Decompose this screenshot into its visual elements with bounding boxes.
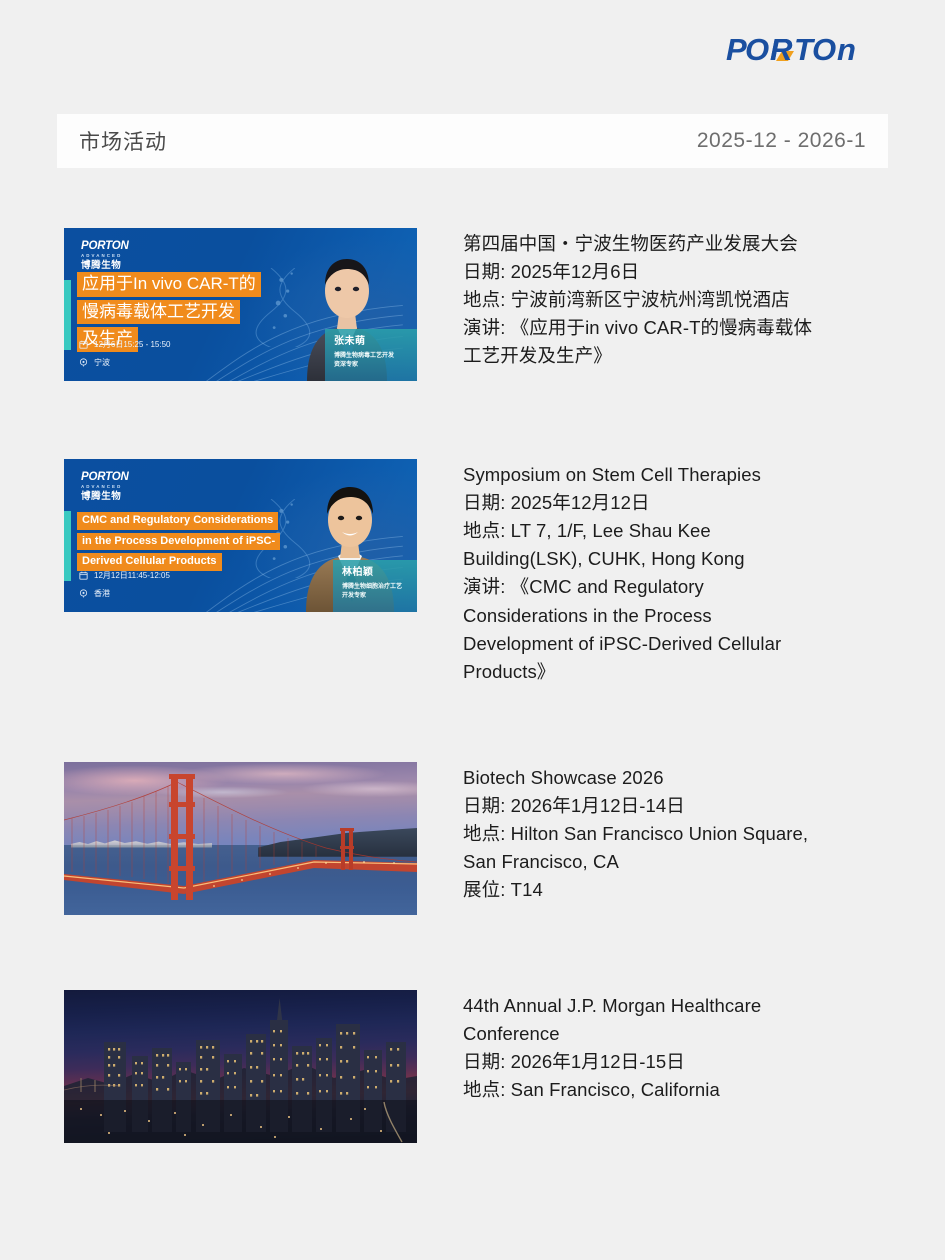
banner-meta: 12月12日11:45-12:05 香港: [79, 571, 170, 598]
svg-text:P: P: [726, 34, 747, 67]
map-pin-icon: [79, 589, 88, 598]
banner-date-text: 12月6日15:25 - 15:50: [94, 341, 171, 349]
banner-date-text: 12月12日11:45-12:05: [94, 572, 170, 580]
svg-text:O: O: [745, 34, 769, 67]
banner-title-line: in the Process Development of iPSC-: [77, 533, 280, 551]
san-francisco-skyline-photo: [64, 990, 417, 1143]
svg-text:R: R: [770, 34, 793, 67]
svg-text:n: n: [837, 34, 855, 67]
svg-text:O: O: [812, 34, 836, 67]
event-details-text: 第四届中国・宁波生物医药产业发展大会 日期: 2025年12月6日 地点: 宁波…: [463, 230, 888, 371]
banner-date: 12月12日11:45-12:05: [79, 571, 170, 580]
event-thumbnail[interactable]: [64, 990, 417, 1143]
event-thumbnail[interactable]: PORTON ADVANCED 博腾生物: [64, 228, 417, 381]
banner-title-line: 应用于In vivo CAR-T的: [77, 272, 261, 297]
event-details: Symposium on Stem Cell Therapies 日期: 202…: [463, 459, 888, 686]
event-details: Biotech Showcase 2026 日期: 2026年1月12日-14日…: [463, 762, 888, 905]
banner-title: CMC and Regulatory Considerations in the…: [77, 512, 280, 571]
event-details: 第四届中国・宁波生物医药产业发展大会 日期: 2025年12月6日 地点: 宁波…: [463, 228, 888, 371]
calendar-icon: [79, 340, 88, 349]
accent-strip: [64, 511, 71, 581]
banner-title-line: Derived Cellular Products: [77, 553, 222, 571]
banner-location-text: 香港: [94, 590, 110, 598]
webinar-banner: PORTON ADVANCED 博腾生物: [64, 459, 417, 612]
brand-header: P O R T O n R: [0, 0, 945, 110]
accent-strip: [64, 280, 71, 350]
porton-wordmark-logo: P O R T O n R: [726, 33, 888, 69]
calendar-icon: [79, 571, 88, 580]
event-thumbnail[interactable]: PORTON ADVANCED 博腾生物: [64, 459, 417, 612]
banner-logo-wordmark: PORTON: [81, 472, 129, 484]
event-details-text: 44th Annual J.P. Morgan Healthcare Confe…: [463, 992, 888, 1104]
events-list: PORTON ADVANCED 博腾生物: [64, 228, 888, 1143]
event-details-text: Biotech Showcase 2026 日期: 2026年1月12日-14日…: [463, 764, 888, 905]
golden-gate-bridge-photo: [64, 762, 417, 915]
banner-date: 12月6日15:25 - 15:50: [79, 340, 171, 349]
banner-location-text: 宁波: [94, 359, 110, 367]
banner-logo-subtitle: ADVANCED: [81, 254, 129, 258]
banner-location: 宁波: [79, 358, 171, 367]
banner-logo-subtitle: ADVANCED: [81, 485, 129, 489]
event-thumbnail[interactable]: [64, 762, 417, 915]
banner-logo: PORTON ADVANCED 博腾生物: [81, 472, 129, 502]
banner-title-line: 慢病毒载体工艺开发: [77, 300, 240, 325]
banner-logo-chinese: 博腾生物: [81, 492, 129, 502]
speaker-role: 博腾生物细胞治疗工艺 开发专家: [342, 583, 409, 601]
banner-title-line: CMC and Regulatory Considerations: [77, 512, 278, 530]
section-header-card: 市场活动 2025-12 - 2026-1: [57, 114, 888, 168]
skyline-structure: [64, 990, 417, 1143]
banner-logo: PORTON ADVANCED 博腾生物: [81, 241, 129, 271]
banner-logo-chinese: 博腾生物: [81, 261, 129, 271]
speaker-card: 林柏颖 博腾生物细胞治疗工艺 开发专家: [333, 560, 417, 612]
speaker-role: 博腾生物病毒工艺开发 资深专家: [334, 352, 409, 370]
webinar-banner: PORTON ADVANCED 博腾生物: [64, 228, 417, 381]
list-item[interactable]: PORTON ADVANCED 博腾生物: [64, 459, 888, 686]
list-item[interactable]: Biotech Showcase 2026 日期: 2026年1月12日-14日…: [64, 762, 888, 915]
banner-logo-wordmark: PORTON: [81, 241, 129, 253]
bridge-structure: [64, 762, 417, 915]
list-item[interactable]: 44th Annual J.P. Morgan Healthcare Confe…: [64, 990, 888, 1143]
list-item[interactable]: PORTON ADVANCED 博腾生物: [64, 228, 888, 381]
speaker-name: 林柏颖: [342, 568, 409, 578]
event-details-text: Symposium on Stem Cell Therapies 日期: 202…: [463, 461, 888, 686]
banner-meta: 12月6日15:25 - 15:50 宁波: [79, 340, 171, 367]
speaker-card: 张未萌 博腾生物病毒工艺开发 资深专家: [325, 329, 417, 381]
map-pin-icon: [79, 358, 88, 367]
speaker-name: 张未萌: [334, 337, 409, 347]
event-details: 44th Annual J.P. Morgan Healthcare Confe…: [463, 990, 888, 1104]
banner-location: 香港: [79, 589, 170, 598]
page-title: 市场活动: [79, 126, 167, 156]
date-range-label: 2025-12 - 2026-1: [697, 129, 866, 153]
